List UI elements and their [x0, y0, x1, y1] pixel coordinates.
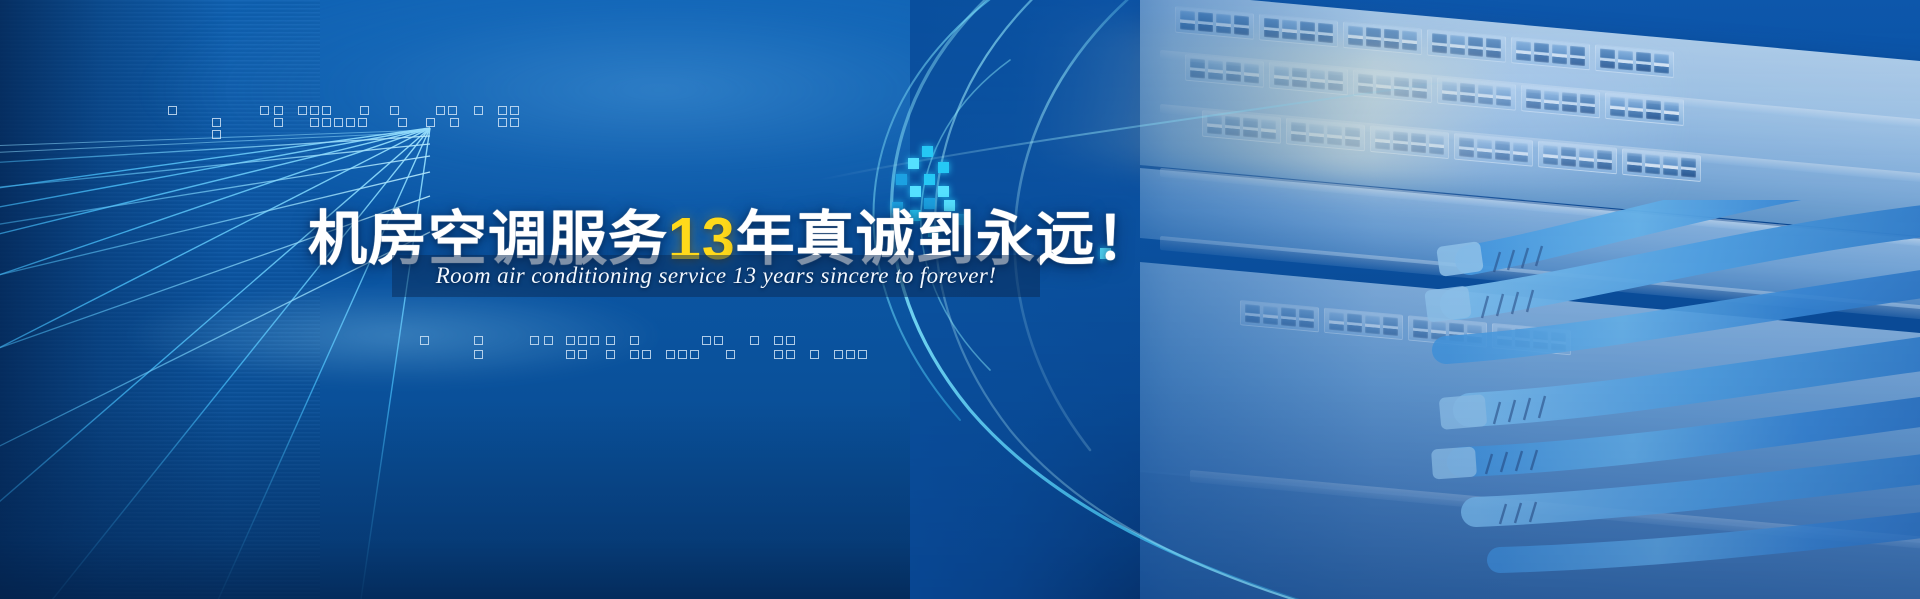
- banner-copy: 机房空调服务13年真诚到永远！ Room air conditioning se…: [0, 0, 1920, 599]
- banner-subtitle: Room air conditioning service 13 years s…: [392, 255, 1040, 297]
- hero-banner: 机房空调服务13年真诚到永远！ Room air conditioning se…: [0, 0, 1920, 599]
